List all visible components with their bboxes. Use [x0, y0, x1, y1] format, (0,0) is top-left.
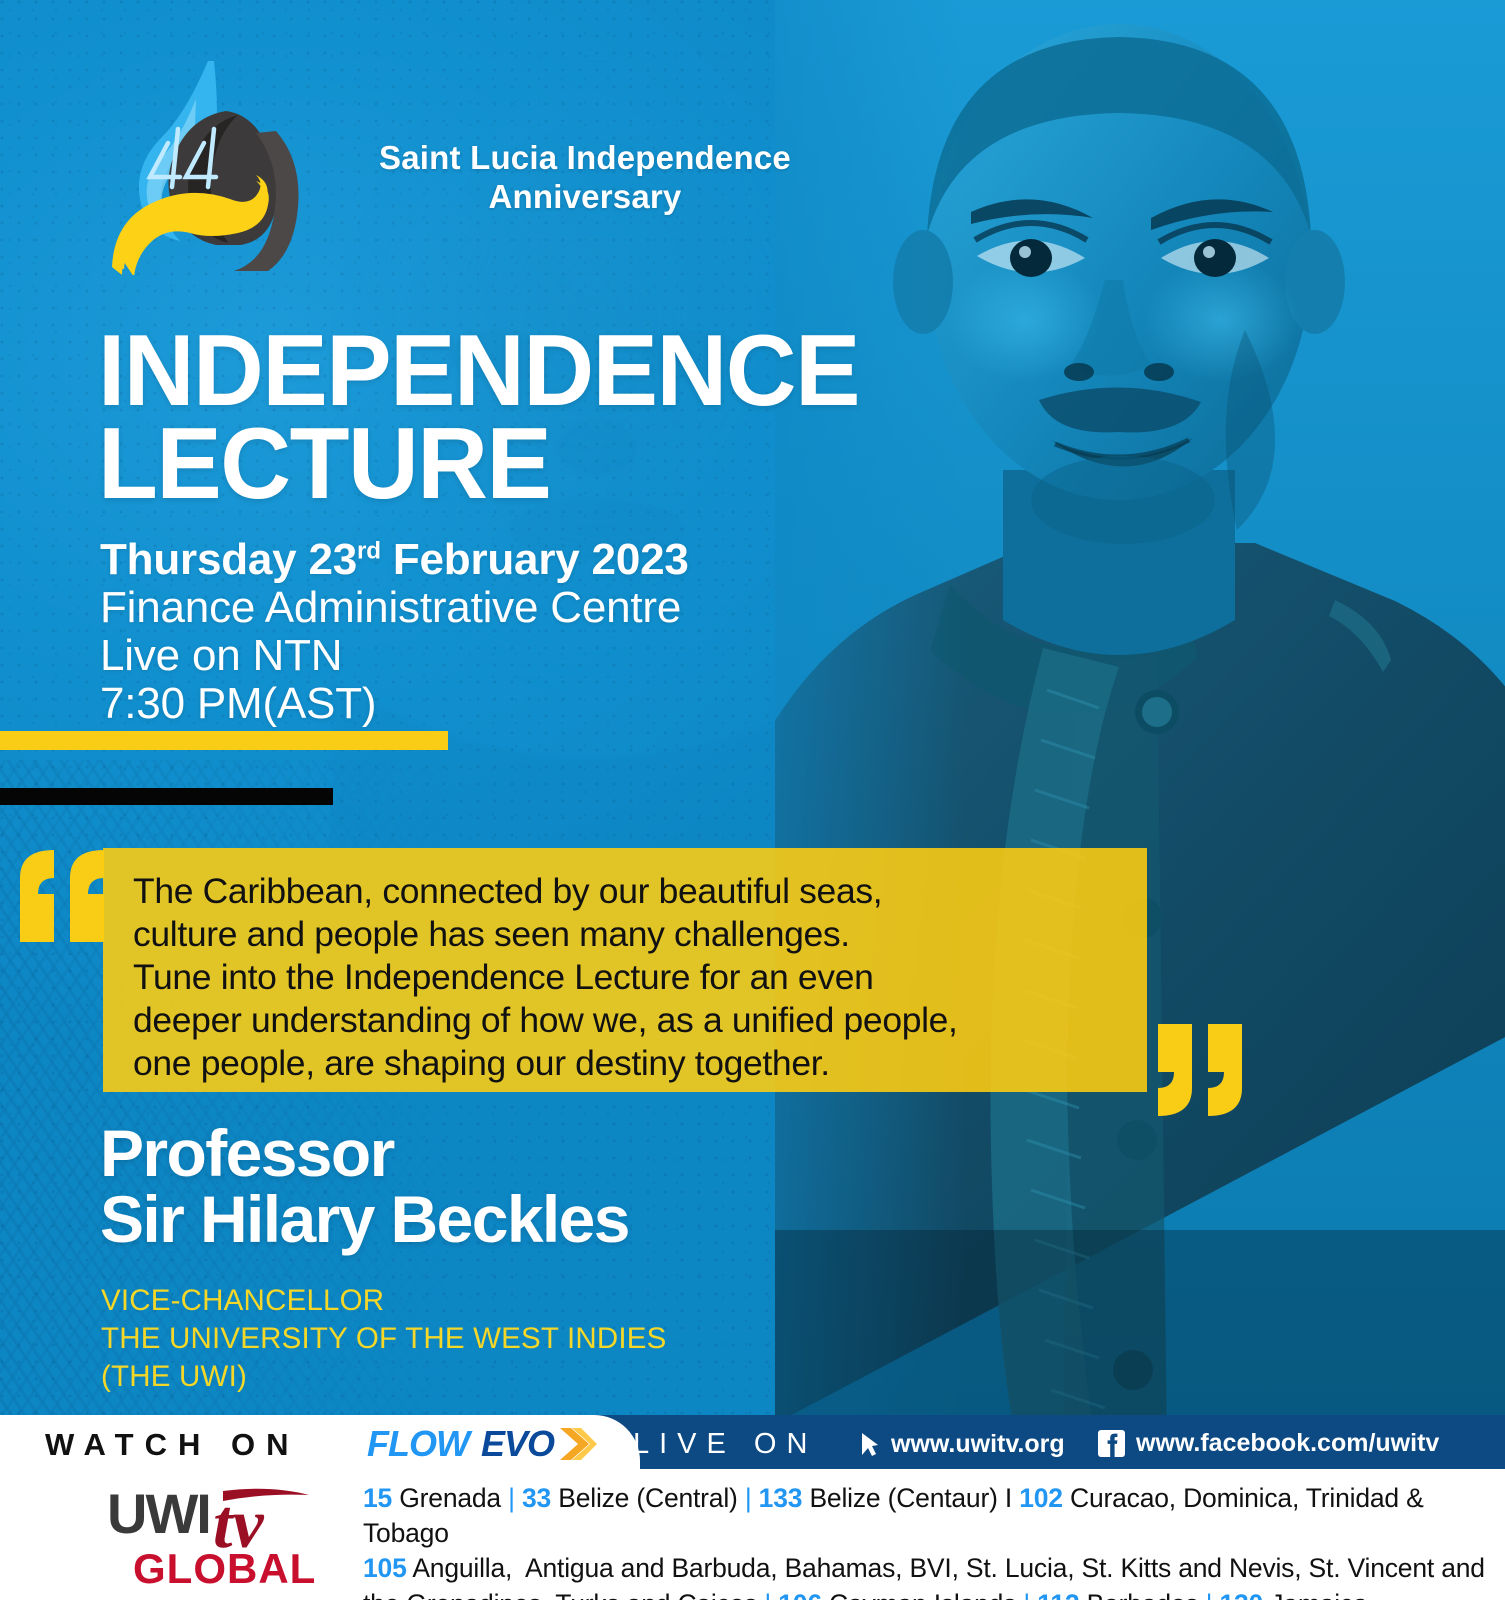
facebook-link[interactable]: www.facebook.com/uwitv	[1098, 1429, 1439, 1458]
live-on-label: LIVE ON	[633, 1428, 817, 1461]
header-title-line1: Saint Lucia Independence	[379, 139, 791, 176]
uwitv-logo-uwi: UWI	[107, 1482, 210, 1545]
page-title: INDEPENDENCE LECTURE	[98, 325, 859, 511]
channel-line-2: 105 Anguilla, Antigua and Barbuda, Baham…	[363, 1551, 1493, 1586]
date-ordinal: rd	[357, 537, 381, 564]
facebook-icon	[1098, 1430, 1125, 1457]
quote-close-icon	[1152, 1022, 1244, 1118]
uwitv-logo-global: GLOBAL	[133, 1545, 316, 1589]
channel-line-3: the Grenadines, Turks and Caicos | 106 C…	[363, 1587, 1493, 1600]
accent-bar-black	[0, 788, 333, 805]
website-url: www.uwitv.org	[891, 1430, 1065, 1459]
flow-evo-evo-text: EVO	[481, 1423, 554, 1465]
header-title-line2: Anniversary	[489, 178, 682, 215]
quote-open-icon	[18, 848, 110, 944]
website-link[interactable]: www.uwitv.org	[860, 1430, 1065, 1459]
event-date: Thursday 23rd February 2023	[100, 538, 689, 583]
speaker-name-line1: Professor	[100, 1116, 394, 1190]
quote-text: The Caribbean, connected by our beautifu…	[133, 870, 1121, 1085]
speaker-role-line2: THE UNIVERSITY OF THE WEST INDIES	[101, 1320, 667, 1358]
flow-evo-chevron-icon	[558, 1425, 598, 1463]
uwitv-global-logo: UWI tv GLOBAL	[105, 1477, 317, 1589]
footer-bar: WATCH ON FLOW EVO LIVE ON www.uwitv.org …	[0, 1415, 1505, 1600]
flow-evo-logo[interactable]: FLOW EVO	[367, 1423, 598, 1465]
headline-line2: LECTURE	[98, 418, 859, 511]
event-venue: Finance Administrative Centre	[100, 586, 689, 631]
channel-line-1: 15 Grenada | 33 Belize (Central) | 133 B…	[363, 1481, 1493, 1551]
channel-listing: 15 Grenada | 33 Belize (Central) | 133 B…	[363, 1481, 1493, 1600]
quote-box: The Caribbean, connected by our beautifu…	[103, 848, 1147, 1092]
header-title: Saint Lucia Independence Anniversary	[350, 139, 820, 217]
speaker-role-line1: VICE-CHANCELLOR	[101, 1282, 667, 1320]
event-details: Thursday 23rd February 2023 Finance Admi…	[100, 538, 689, 730]
poster-root: Saint Lucia Independence Anniversary IND…	[0, 0, 1505, 1600]
flow-evo-flow-text: FLOW	[367, 1423, 469, 1465]
cursor-arrow-icon	[860, 1432, 879, 1457]
event-time: 7:30 PM(AST)	[100, 682, 689, 727]
accent-bar-yellow	[0, 731, 448, 750]
speaker-portrait-hilary-beckles	[775, 0, 1505, 1445]
event-broadcast: Live on NTN	[100, 634, 689, 679]
header-logo-lockup: Saint Lucia Independence Anniversary	[100, 55, 820, 275]
facebook-url: www.facebook.com/uwitv	[1136, 1429, 1439, 1458]
watch-on-label: WATCH ON	[45, 1427, 299, 1463]
saint-lucia-44th-anniversary-logo	[100, 55, 332, 275]
speaker-role-line3: (THE UWI)	[101, 1358, 667, 1396]
speaker-name-line2: Sir Hilary Beckles	[100, 1186, 629, 1252]
speaker-role: VICE-CHANCELLOR THE UNIVERSITY OF THE WE…	[101, 1282, 667, 1395]
speaker-name: Professor Sir Hilary Beckles	[100, 1120, 629, 1252]
